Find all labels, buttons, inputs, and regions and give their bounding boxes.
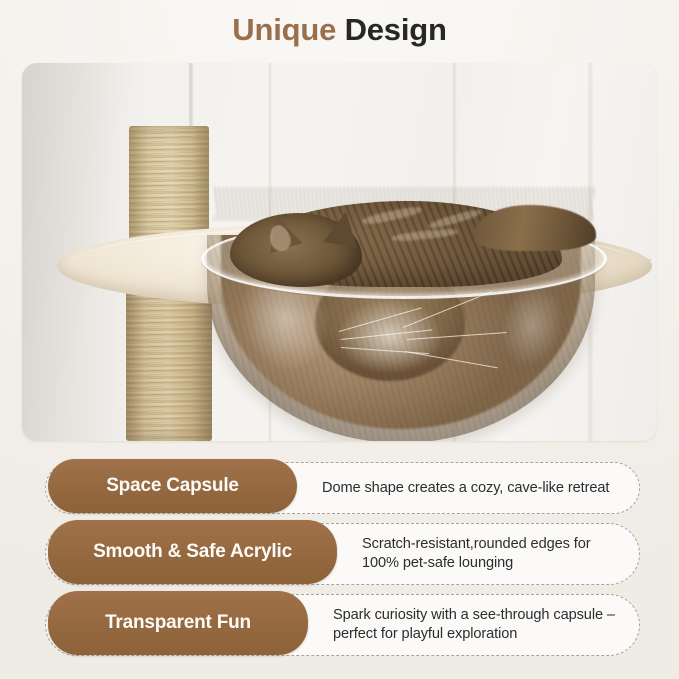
feature-description: Dome shape creates a cozy, cave-like ret… (297, 479, 639, 498)
feature-description: Spark curiosity with a see-through capsu… (308, 606, 639, 644)
feature-row[interactable]: Space Capsule Dome shape creates a cozy,… (45, 462, 640, 514)
sleeping-cat (218, 195, 590, 291)
page-title-rest: Design (345, 12, 447, 47)
feature-list: Space Capsule Dome shape creates a cozy,… (45, 462, 640, 665)
cat-stripe (392, 228, 458, 243)
feature-label-pill: Space Capsule (48, 459, 297, 513)
page-title: Unique Design (0, 10, 679, 50)
cat-ear-right (323, 208, 362, 247)
page-title-accent: Unique (232, 12, 336, 47)
cat-stripe (428, 208, 482, 231)
feature-row[interactable]: Smooth & Safe Acrylic Scratch-resistant,… (45, 523, 640, 585)
feature-description: Scratch-resistant,rounded edges for 100%… (337, 535, 639, 573)
page-title-container: Unique Design (0, 10, 679, 50)
cat-stripe (362, 205, 423, 226)
feature-row[interactable]: Transparent Fun Spark curiosity with a s… (45, 594, 640, 656)
hero-product-photo: Tabby cat curled up asleep inside a tran… (22, 63, 657, 441)
product-feature-panel: Unique Design (0, 0, 679, 679)
cat-head (230, 213, 362, 287)
feature-label-pill: Transparent Fun (48, 591, 308, 655)
feature-label-pill: Smooth & Safe Acrylic (48, 520, 337, 584)
